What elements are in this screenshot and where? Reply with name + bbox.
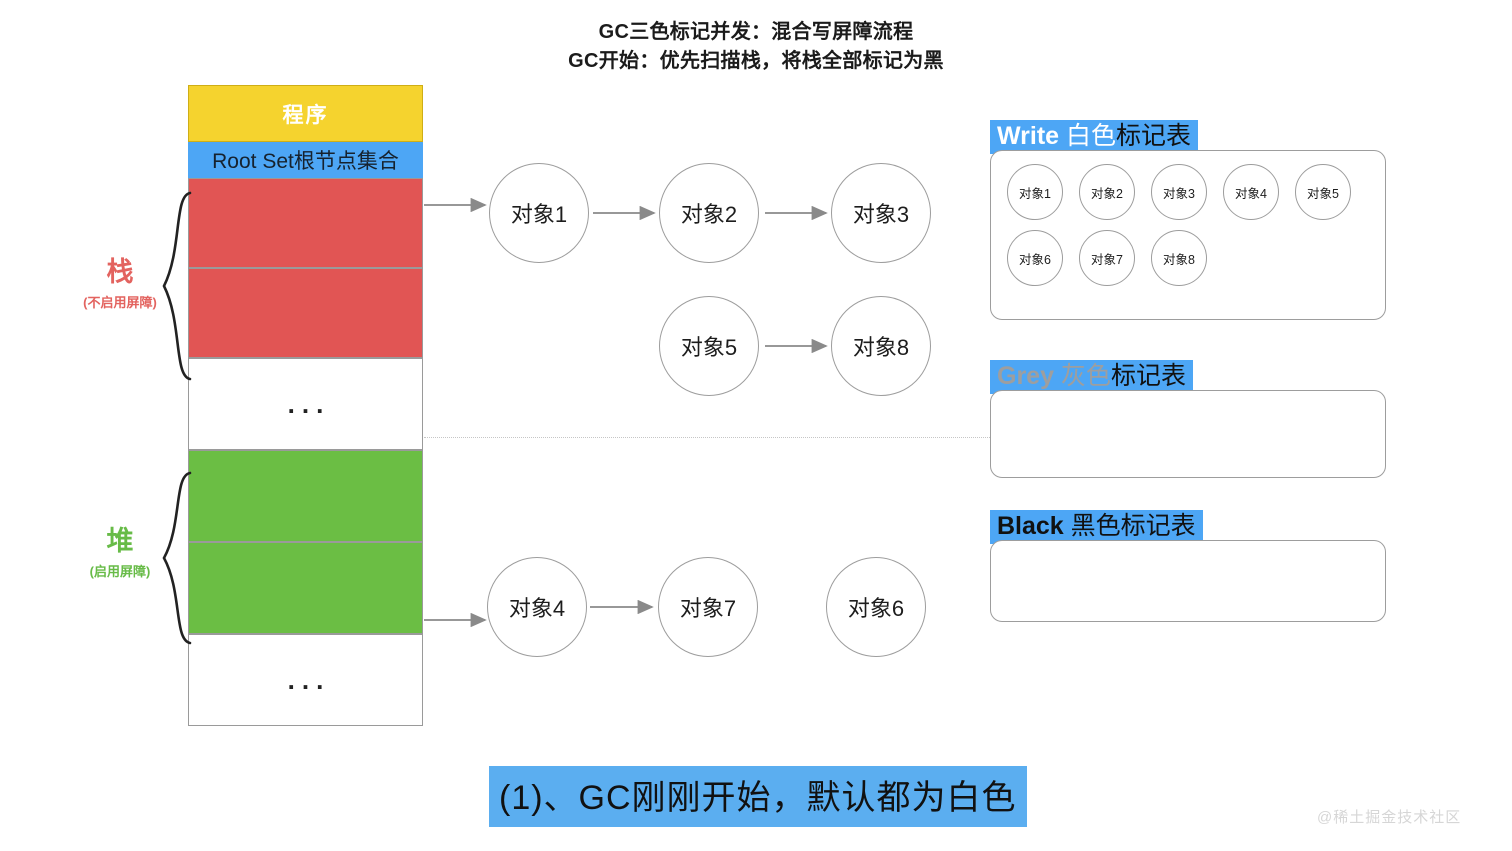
object-node-obj1[interactable]: 对象1	[489, 163, 589, 263]
mark-table-black-title: Black 黑色标记表	[990, 510, 1203, 544]
mark-title-en-grey: Grey	[997, 362, 1054, 390]
mark-title-suffix-white: 标记表	[1116, 122, 1191, 150]
mark-title-en-black: Black	[997, 512, 1064, 540]
mark-chip[interactable]: 对象3	[1151, 164, 1207, 220]
object-node-obj2[interactable]: 对象2	[659, 163, 759, 263]
watermark: @稀土掘金技术社区	[1317, 806, 1461, 827]
mark-chip[interactable]: 对象1	[1007, 164, 1063, 220]
object-node-obj3[interactable]: 对象3	[831, 163, 931, 263]
mark-table-black: Black 黑色标记表	[990, 510, 1386, 622]
mark-table-white: Write 白色标记表 对象1 对象2 对象3 对象4 对象5 对象6 对象7 …	[990, 120, 1386, 320]
mark-table-black-box	[990, 540, 1386, 622]
mark-title-suffix-grey: 标记表	[1111, 362, 1186, 390]
mark-chip[interactable]: 对象6	[1007, 230, 1063, 286]
mark-title-cn-black: 黑色	[1064, 512, 1121, 540]
object-node-obj7[interactable]: 对象7	[658, 557, 758, 657]
mark-table-grey-title: Grey 灰色标记表	[990, 360, 1193, 394]
mark-chip[interactable]: 对象8	[1151, 230, 1207, 286]
mark-title-cn-white: 白色	[1059, 122, 1116, 150]
mark-chip[interactable]: 对象2	[1079, 164, 1135, 220]
mark-chip-row: 对象6 对象7 对象8	[991, 220, 1385, 286]
mark-title-suffix-black: 标记表	[1121, 512, 1196, 540]
object-node-obj8[interactable]: 对象8	[831, 296, 931, 396]
mark-table-white-title: Write 白色标记表	[990, 120, 1198, 154]
mark-table-grey-box	[990, 390, 1386, 478]
object-node-obj6[interactable]: 对象6	[826, 557, 926, 657]
mark-table-grey: Grey 灰色标记表	[990, 360, 1386, 478]
object-node-obj5[interactable]: 对象5	[659, 296, 759, 396]
mark-title-en-white: Write	[997, 122, 1059, 150]
mark-chip[interactable]: 对象4	[1223, 164, 1279, 220]
object-node-obj4[interactable]: 对象4	[487, 557, 587, 657]
mark-table-white-box: 对象1 对象2 对象3 对象4 对象5 对象6 对象7 对象8	[990, 150, 1386, 320]
mark-chip[interactable]: 对象5	[1295, 164, 1351, 220]
mark-title-cn-grey: 灰色	[1054, 362, 1111, 390]
mark-chip[interactable]: 对象7	[1079, 230, 1135, 286]
mark-chip-row: 对象1 对象2 对象3 对象4 对象5	[991, 151, 1385, 220]
step-caption: (1)、GC刚刚开始，默认都为白色	[489, 766, 1027, 827]
